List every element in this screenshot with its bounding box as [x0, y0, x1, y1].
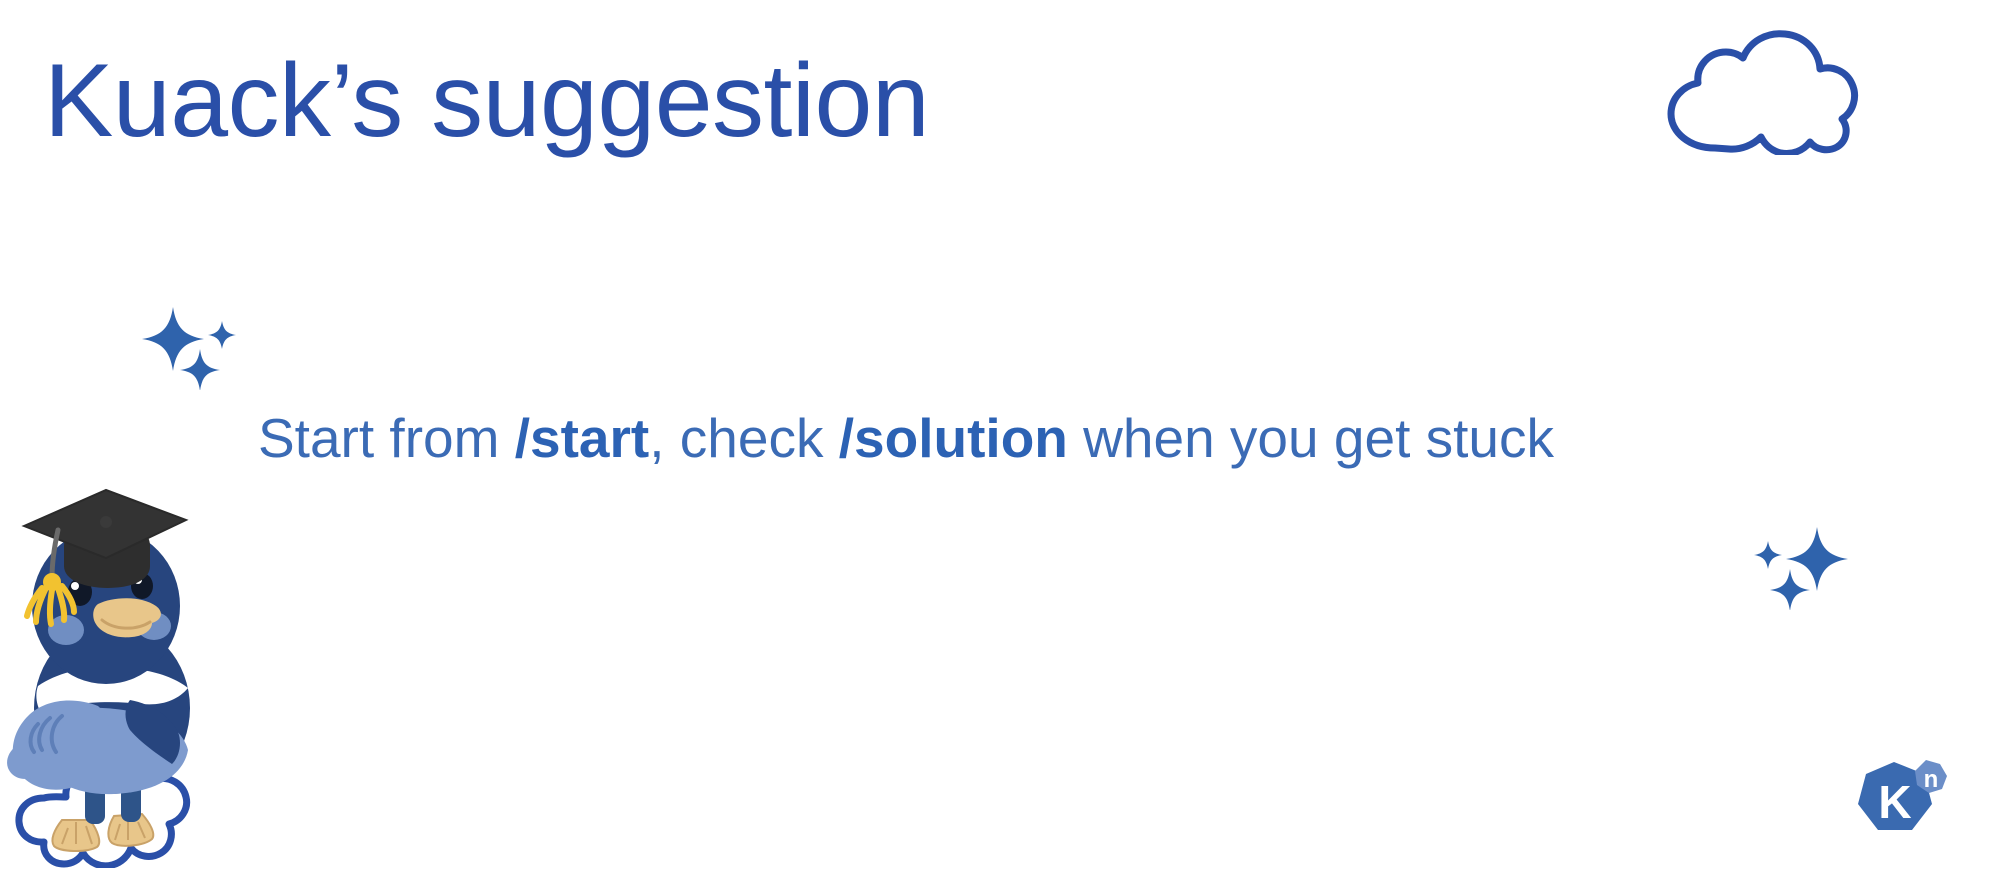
command-solution: /solution [839, 407, 1068, 469]
command-start: /start [515, 407, 650, 469]
body-segment-1: Start from [258, 407, 515, 469]
body-text: Start from /start, check /solution when … [258, 405, 1554, 471]
logo-primary-letter: K [1878, 776, 1911, 828]
graduate-duck-mascot-icon [2, 468, 217, 868]
brand-logo: K n [1852, 752, 1957, 847]
logo-badge-letter: n [1924, 766, 1939, 793]
cloud-outline-icon [1655, 30, 1870, 155]
body-segment-3: when you get stuck [1068, 407, 1554, 469]
sparkles-icon [140, 305, 240, 390]
sparkles-icon [1750, 525, 1850, 610]
page-title: Kuack’s suggestion [44, 42, 929, 162]
slide-canvas: Kuack’s suggestion Start from /start, c [0, 0, 1999, 878]
body-segment-2: , check [649, 407, 839, 469]
